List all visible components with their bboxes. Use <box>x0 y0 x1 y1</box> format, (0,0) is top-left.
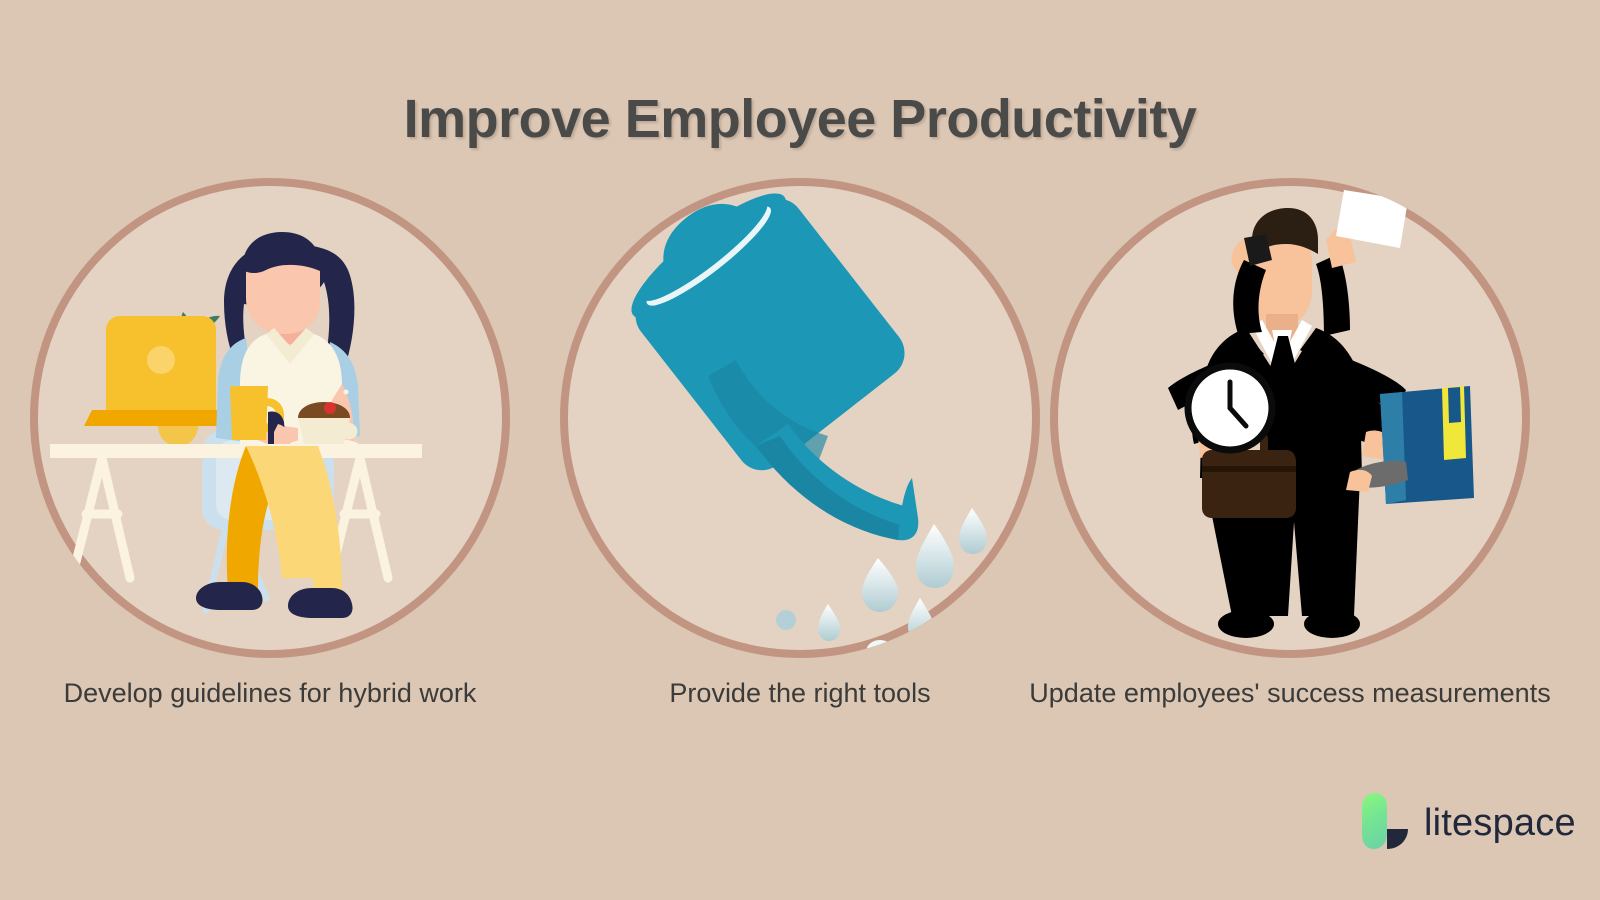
circle-frame <box>1050 178 1530 658</box>
brand-logo: litespace <box>1356 793 1576 854</box>
infographic-canvas: Improve Employee Productivity <box>0 0 1600 900</box>
illustration-watering-can-icon <box>560 178 1040 658</box>
circle-frame <box>30 178 510 658</box>
illustration-woman-at-desk-icon <box>30 178 510 658</box>
circle-frame <box>560 178 1040 658</box>
page-title: Improve Employee Productivity <box>0 88 1600 150</box>
illustration-multitasking-businessman-icon <box>1050 178 1530 658</box>
cards-row: Develop guidelines for hybrid work <box>0 178 1600 738</box>
card-hybrid-work: Develop guidelines for hybrid work <box>10 178 530 738</box>
brand-wordmark: litespace <box>1424 802 1576 845</box>
card-right-tools: Provide the right tools <box>540 178 1060 738</box>
litespace-mark-icon <box>1356 793 1408 854</box>
card-success-measurements: Update employees' success measurements <box>1030 178 1550 738</box>
card-caption: Update employees' success measurements <box>990 678 1590 709</box>
card-caption: Develop guidelines for hybrid work <box>0 678 570 709</box>
